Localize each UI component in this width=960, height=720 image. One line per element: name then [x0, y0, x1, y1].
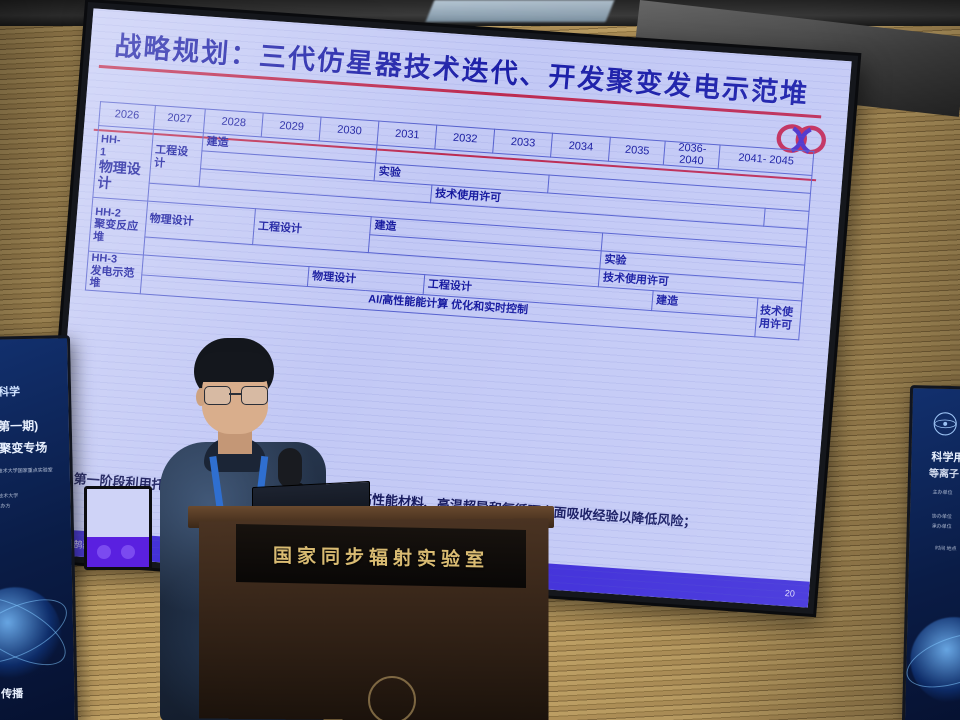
- left-banner-line1: 前沿科学: [0, 383, 20, 400]
- program-sublabel: 聚变反应堆: [93, 218, 143, 247]
- program-label-hh1: HH- 1 物理设计: [93, 126, 153, 202]
- presentation-room-photo: 战略规划：三代仿星器技术迭代、开发聚变发电示范堆: [0, 0, 960, 720]
- previous-icon[interactable]: [97, 545, 111, 559]
- left-banner-bottom: · 传播: [0, 685, 23, 702]
- left-standing-banner: 前沿科学 龙 (第一期) 与核聚变专场 中国科学技术大学国家重点实验室 (NSR…: [0, 335, 78, 720]
- right-standing-banner: 科学用 等离子 主办单位 协办单位 承办单位 时间 地点: [902, 385, 960, 720]
- institute-circular-logo: [932, 411, 959, 438]
- presenter-fringe: [196, 352, 272, 382]
- venue-sign-text: 国家同步辐射实验室: [273, 540, 489, 572]
- program-sublabel: 发电示范堆: [89, 265, 139, 294]
- phase-cell-engineering-design: 工程设计: [149, 129, 204, 186]
- left-banner-small1: 中国科学技术大学国家重点实验室: [0, 466, 53, 475]
- glasses-icon: [204, 386, 266, 403]
- roadmap-table: 2026 2027 2028 2029 2030 2031 2032 2033 …: [84, 101, 814, 350]
- left-banner-small3: 中国科学技术大学: [0, 492, 18, 500]
- program-sublabel: 物理设计: [97, 158, 147, 193]
- program-label-hh2: HH-2 聚变反应堆: [89, 197, 148, 255]
- podium-nameplate: 国家同步辐射实验室: [236, 524, 526, 588]
- microphone-icon: [278, 448, 302, 488]
- right-banner-small1: 主办单位: [932, 489, 952, 496]
- right-banner-line1: 科学用: [931, 449, 960, 466]
- podium-emblem: [368, 676, 416, 720]
- slide-page-number: 20: [784, 588, 795, 599]
- left-banner-line2: 龙 (第一期): [0, 417, 38, 435]
- right-banner-line2: 等离子: [929, 464, 959, 480]
- year-cell: 2027: [153, 105, 205, 133]
- left-banner-line3: 与核聚变专场: [0, 439, 47, 458]
- left-banner-small4: USTC 主办方: [0, 502, 11, 510]
- program-label-hh3: HH-3 发电示范堆: [85, 251, 143, 294]
- right-banner-small4: 时间 地点: [935, 545, 957, 553]
- right-banner-small2: 协办单位: [932, 513, 952, 520]
- phase-cell-license: 技术使用许可: [754, 298, 801, 340]
- right-banner-small3: 承办单位: [932, 523, 952, 530]
